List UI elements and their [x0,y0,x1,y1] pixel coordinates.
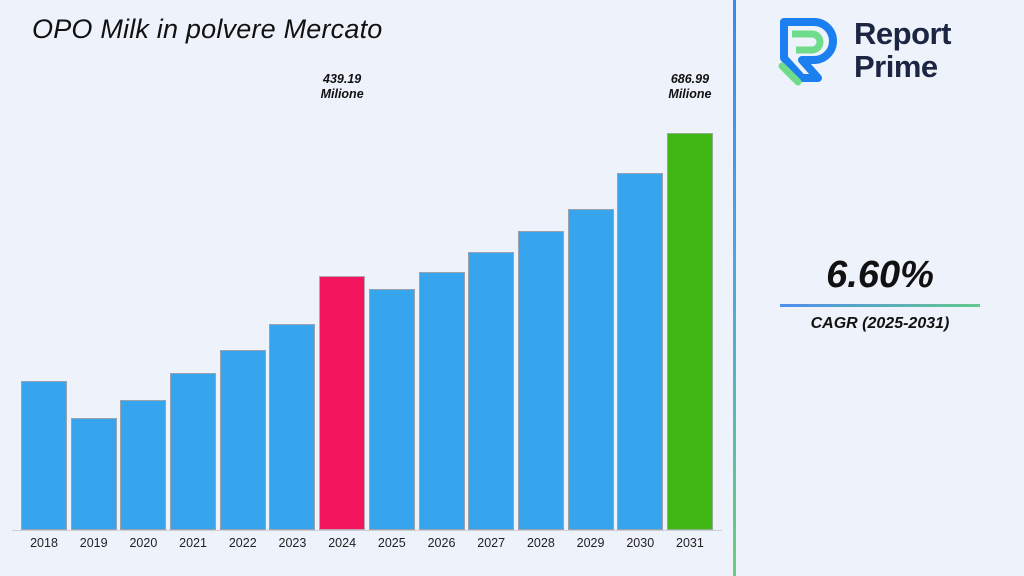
bar-2021[interactable] [170,373,216,530]
bar-slot-2018 [20,110,68,530]
bar-slot-2020 [119,110,167,530]
page-title: OPO Milk in polvere Mercato [32,12,632,46]
cagr-caption: CAGR (2025-2031) [736,315,1024,333]
x-tick-2028: 2028 [517,536,565,560]
brand-name: Report Prime [854,17,951,83]
bar-slot-2024: 439.19 Milione [318,110,366,530]
x-tick-2031: 2031 [666,536,714,560]
brand-name-line1: Report [854,16,951,51]
bar-slot-2030 [616,110,664,530]
bar-slot-2029 [567,110,615,530]
bar-2022[interactable] [220,350,266,530]
bar-2023[interactable] [269,324,315,530]
brand-logo: Report Prime [772,14,951,86]
bar-2020[interactable] [120,400,166,530]
x-axis-labels: 2018 2019 2020 2021 2022 2023 2024 2025 … [12,536,722,560]
x-tick-2024: 2024 [318,536,366,560]
bar-slot-2021 [169,110,217,530]
bar-2024[interactable]: 439.19 Milione [319,276,365,530]
bar-value-label-2024: 439.19 Milione [282,72,402,102]
x-tick-2018: 2018 [20,536,68,560]
x-tick-2021: 2021 [169,536,217,560]
bar-2031[interactable]: 686.99 Milione [667,133,713,530]
bar-2026[interactable] [419,272,465,530]
bar-slot-2026 [418,110,466,530]
brand-name-line2: Prime [854,49,938,84]
report-prime-logo-icon [772,14,844,86]
bar-slot-2023 [268,110,316,530]
bar-2028[interactable] [518,231,564,530]
bar-slot-2027 [467,110,515,530]
bar-2027[interactable] [468,252,514,530]
bar-2029[interactable] [568,209,614,530]
bar-slot-2019 [70,110,118,530]
x-axis-line [12,530,722,531]
bar-2019[interactable] [71,418,117,530]
bar-slot-2025 [368,110,416,530]
bar-chart-plot: 439.19 Milione [12,110,722,530]
bar-2025[interactable] [369,289,415,530]
x-tick-2019: 2019 [70,536,118,560]
bar-value-label-2031: 686.99 Milione [630,72,750,102]
bar-slot-2022 [219,110,267,530]
bar-2030[interactable] [617,173,663,530]
x-tick-2025: 2025 [368,536,416,560]
cagr-block: 6.60% CAGR (2025-2031) [736,252,1024,333]
x-tick-2026: 2026 [418,536,466,560]
cagr-divider [780,304,980,307]
chart-panel: OPO Milk in polvere Mercato [0,0,733,576]
x-tick-2023: 2023 [268,536,316,560]
x-tick-2022: 2022 [219,536,267,560]
x-tick-2029: 2029 [567,536,615,560]
bar-series: 439.19 Milione [12,110,722,530]
bar-slot-2031: 686.99 Milione [666,110,714,530]
x-tick-2020: 2020 [119,536,167,560]
x-tick-2030: 2030 [616,536,664,560]
infographic-page: OPO Milk in polvere Mercato [0,0,1024,576]
x-tick-2027: 2027 [467,536,515,560]
bar-slot-2028 [517,110,565,530]
bar-2018[interactable] [21,381,67,530]
brand-panel: Report Prime 6.60% CAGR (2025-2031) [736,0,1024,576]
cagr-value: 6.60% [736,252,1024,298]
